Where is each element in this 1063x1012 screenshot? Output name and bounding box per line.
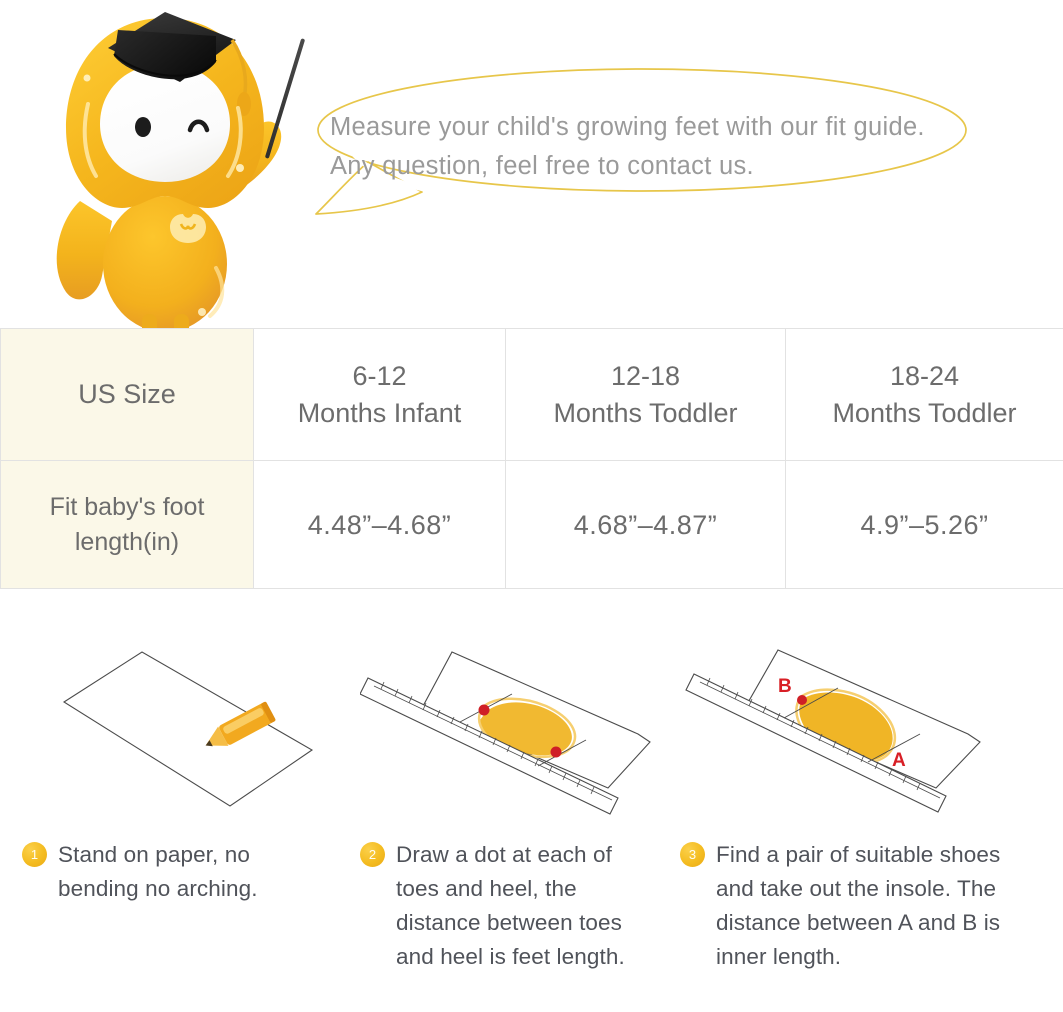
value-cell-1: 4.48”–4.68” — [254, 461, 506, 589]
header-cell-6-12-months: 6-12 Months Infant — [254, 329, 506, 461]
ruler-insole-ab-illustration: B A — [680, 630, 1025, 825]
size-chart-table: US Size 6-12 Months Infant 12-18 Months … — [0, 328, 1063, 589]
step-3-text: Find a pair of suitable shoes and take o… — [716, 838, 1016, 974]
mascot-eye-left — [135, 117, 151, 137]
step-1: 1 Stand on paper, no bending no arching. — [22, 600, 367, 1012]
header-group-1: Months Infant — [258, 395, 501, 432]
foot-length-value-2: 4.68”–4.87” — [510, 507, 781, 543]
heel-dot-marker — [551, 747, 562, 758]
header-age-2: 12-18 — [510, 358, 781, 395]
header-cell-12-18-months: 12-18 Months Toddler — [506, 329, 786, 461]
point-b-dot — [797, 695, 807, 705]
row-label-us-size: US Size — [1, 329, 254, 461]
marker-b-label: B — [778, 676, 792, 697]
value-cell-3: 4.9”–5.26” — [786, 461, 1063, 589]
hero-section: Measure your child's growing feet with o… — [0, 0, 1063, 328]
header-group-3: Months Toddler — [790, 395, 1059, 432]
mascot-illustration — [40, 0, 330, 332]
step-1-badge: 1 — [22, 842, 47, 867]
step-2-text: Draw a dot at each of toes and heel, the… — [396, 838, 646, 974]
step-1-text: Stand on paper, no bending no arching. — [58, 838, 308, 906]
step-3-artwork: B A — [680, 630, 1025, 825]
us-size-label: US Size — [5, 376, 249, 413]
step-3: B A 3 Find a pair of suitable shoes and … — [680, 600, 1025, 1012]
header-age-1: 6-12 — [258, 358, 501, 395]
header-cell-18-24-months: 18-24 Months Toddler — [786, 329, 1063, 461]
toe-dot-marker — [479, 705, 490, 716]
measure-steps-section: 1 Stand on paper, no bending no arching. — [0, 600, 1063, 1012]
step-2-badge: 2 — [360, 842, 385, 867]
row-label-foot-length: Fit baby's foot length(in) — [1, 461, 254, 589]
ruler-foot-dots-illustration — [360, 630, 705, 825]
marker-a-label: A — [892, 750, 906, 771]
table-row-foot-length: Fit baby's foot length(in) 4.48”–4.68” 4… — [1, 461, 1063, 589]
step-1-artwork — [22, 630, 367, 825]
bubble-message-text: Measure your child's growing feet with o… — [330, 108, 930, 186]
foot-length-value-3: 4.9”–5.26” — [790, 507, 1059, 543]
step-3-caption: 3 Find a pair of suitable shoes and take… — [680, 838, 1025, 974]
table-row-header: US Size 6-12 Months Infant 12-18 Months … — [1, 329, 1063, 461]
fit-guide-page: Measure your child's growing feet with o… — [0, 0, 1063, 1012]
foot-length-value-1: 4.48”–4.68” — [258, 507, 501, 543]
value-cell-2: 4.68”–4.87” — [506, 461, 786, 589]
paper-with-pencil-illustration — [22, 630, 367, 825]
step-2-artwork — [360, 630, 705, 825]
step-2: 2 Draw a dot at each of toes and heel, t… — [360, 600, 705, 1012]
header-group-2: Months Toddler — [510, 395, 781, 432]
header-age-3: 18-24 — [790, 358, 1059, 395]
step-2-caption: 2 Draw a dot at each of toes and heel, t… — [360, 838, 705, 974]
foot-length-label: Fit baby's foot length(in) — [5, 490, 249, 560]
step-1-caption: 1 Stand on paper, no bending no arching. — [22, 838, 367, 906]
graduation-mascot-character — [40, 0, 330, 332]
step-3-badge: 3 — [680, 842, 705, 867]
